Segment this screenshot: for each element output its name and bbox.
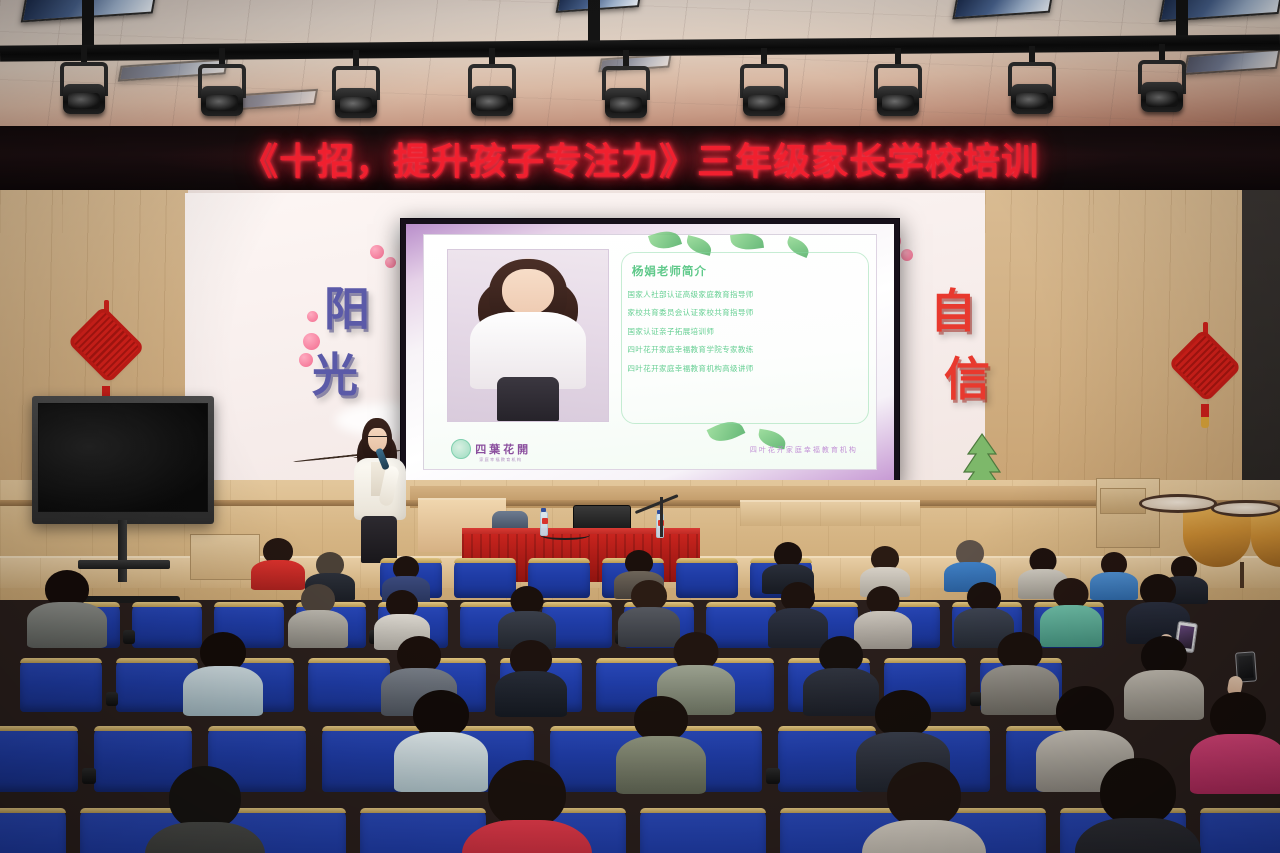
seat-knob [123,630,135,644]
stage-light [1006,62,1058,118]
flower-logo-icon [451,439,471,459]
slide-bullet-list: 国家人社部认证高级家庭教育指导师 家校共育委员会认证家校共育指导师 国家认证亲子… [627,289,871,382]
balloon-decor [901,249,913,261]
seat[interactable] [1200,808,1280,853]
seat-knob [106,692,118,706]
stage-light [330,66,382,122]
stage-light [738,64,790,120]
cable [540,530,590,540]
wall-char-xin: 信 [944,356,990,402]
torso [1124,670,1204,720]
slide-line: 国家认证亲子拓展培训师 [627,326,871,337]
balloon-decor [299,353,313,367]
seat[interactable] [308,658,390,712]
audience-area [0,540,1280,853]
audience-member [150,766,260,853]
stage-light [872,64,924,120]
leaf-decor [730,231,764,252]
chinese-knot-left [70,300,142,396]
audience-member [186,632,260,708]
audience-member [30,570,104,640]
projection-screen-frame: 杨娟老师简介 国家人社部认证高级家庭教育指导师 家校共育委员会认证家校共育指导师… [400,218,900,486]
logo-subtitle: 家庭幸福教育机构 [479,457,522,463]
balloon-decor [370,245,384,259]
bottle-cap [541,508,546,512]
audience-member [500,586,554,644]
head [488,760,566,828]
audience-member [1080,758,1196,853]
seat[interactable] [676,558,738,598]
torso [27,602,107,648]
wall-char-yang: 阳 [324,286,370,332]
audience-member [1194,692,1280,790]
speaker-portrait [447,249,610,422]
slide-title: 杨娟老师简介 [632,263,707,279]
audience-member [770,582,826,642]
torso [862,820,986,853]
head [1056,686,1114,736]
stage-light [600,66,652,122]
presentation-slide: 杨娟老师简介 国家人社部认证高级家庭教育指导师 家校共育委员会认证家校共育指导师… [423,234,877,470]
stage-light [466,64,518,120]
torso [1190,734,1280,794]
torso [616,736,706,794]
slide-line: 四叶花开家庭幸福教育机构高级讲师 [627,363,871,374]
slide-line: 家校共育委员会认证家校共育指导师 [627,307,871,318]
head [887,762,961,828]
banner-title: 《十招，提升孩子专注力》三年级家长学校培训 [241,131,1039,185]
truss-drop [588,0,600,44]
stage-light [196,64,248,120]
head [169,766,241,830]
projection-screen: 杨娟老师简介 国家人社部认证高级家庭教育指导师 家校共育委员会认证家校共育指导师… [406,224,894,480]
audience-member [868,762,980,853]
stage-light [1136,60,1188,116]
slide-logo: 四葉花開 家庭幸福教育机构 [451,439,531,459]
audience-member [468,760,586,853]
seat-knob [82,768,96,784]
audience-member [290,584,346,642]
flat-panel-display[interactable] [32,396,214,524]
torso [183,666,263,716]
slide-line: 四叶花开家庭幸福教育学院专家教练 [627,344,871,355]
seat[interactable] [20,658,102,712]
event-banner: 《十招，提升孩子专注力》三年级家长学校培训 [0,126,1280,190]
logo-text: 四葉花開 [475,441,531,457]
head [1100,758,1176,826]
seat[interactable] [0,726,78,792]
audience-member [620,696,702,788]
stage-step [740,500,920,526]
head [1210,692,1266,740]
wall-dark-column [1242,190,1280,500]
torso [288,610,348,648]
audience-member [1128,636,1200,714]
leaf-decor [648,226,682,252]
head [413,690,469,738]
lecture-hall-photo: 《十招，提升孩子专注力》三年级家长学校培训 [0,0,1280,853]
microphone-stand [660,497,663,537]
torso [145,822,265,853]
chinese-knot-right [1172,322,1238,414]
torso [495,671,567,717]
truss-drop [82,0,94,46]
seat[interactable] [640,808,766,853]
stage-light [58,62,110,118]
audience-member [498,640,564,712]
balloon-decor [385,257,396,268]
wall-char-zi: 自 [930,288,976,334]
torso [1075,818,1201,853]
wall-char-guang: 光 [312,352,358,398]
glasses-icon [368,436,387,440]
seat-knob [766,768,780,784]
balloon-decor [307,311,318,322]
slide-footer-text: 四叶花开家庭幸福教育机构 [750,445,858,455]
display-panel [38,403,208,512]
seat[interactable] [0,808,66,853]
torso [462,820,592,853]
portrait-figure [448,250,609,421]
audience-member [252,538,304,586]
head [875,690,931,738]
slide-line: 国家人社部认证高级家庭教育指导师 [627,289,871,300]
